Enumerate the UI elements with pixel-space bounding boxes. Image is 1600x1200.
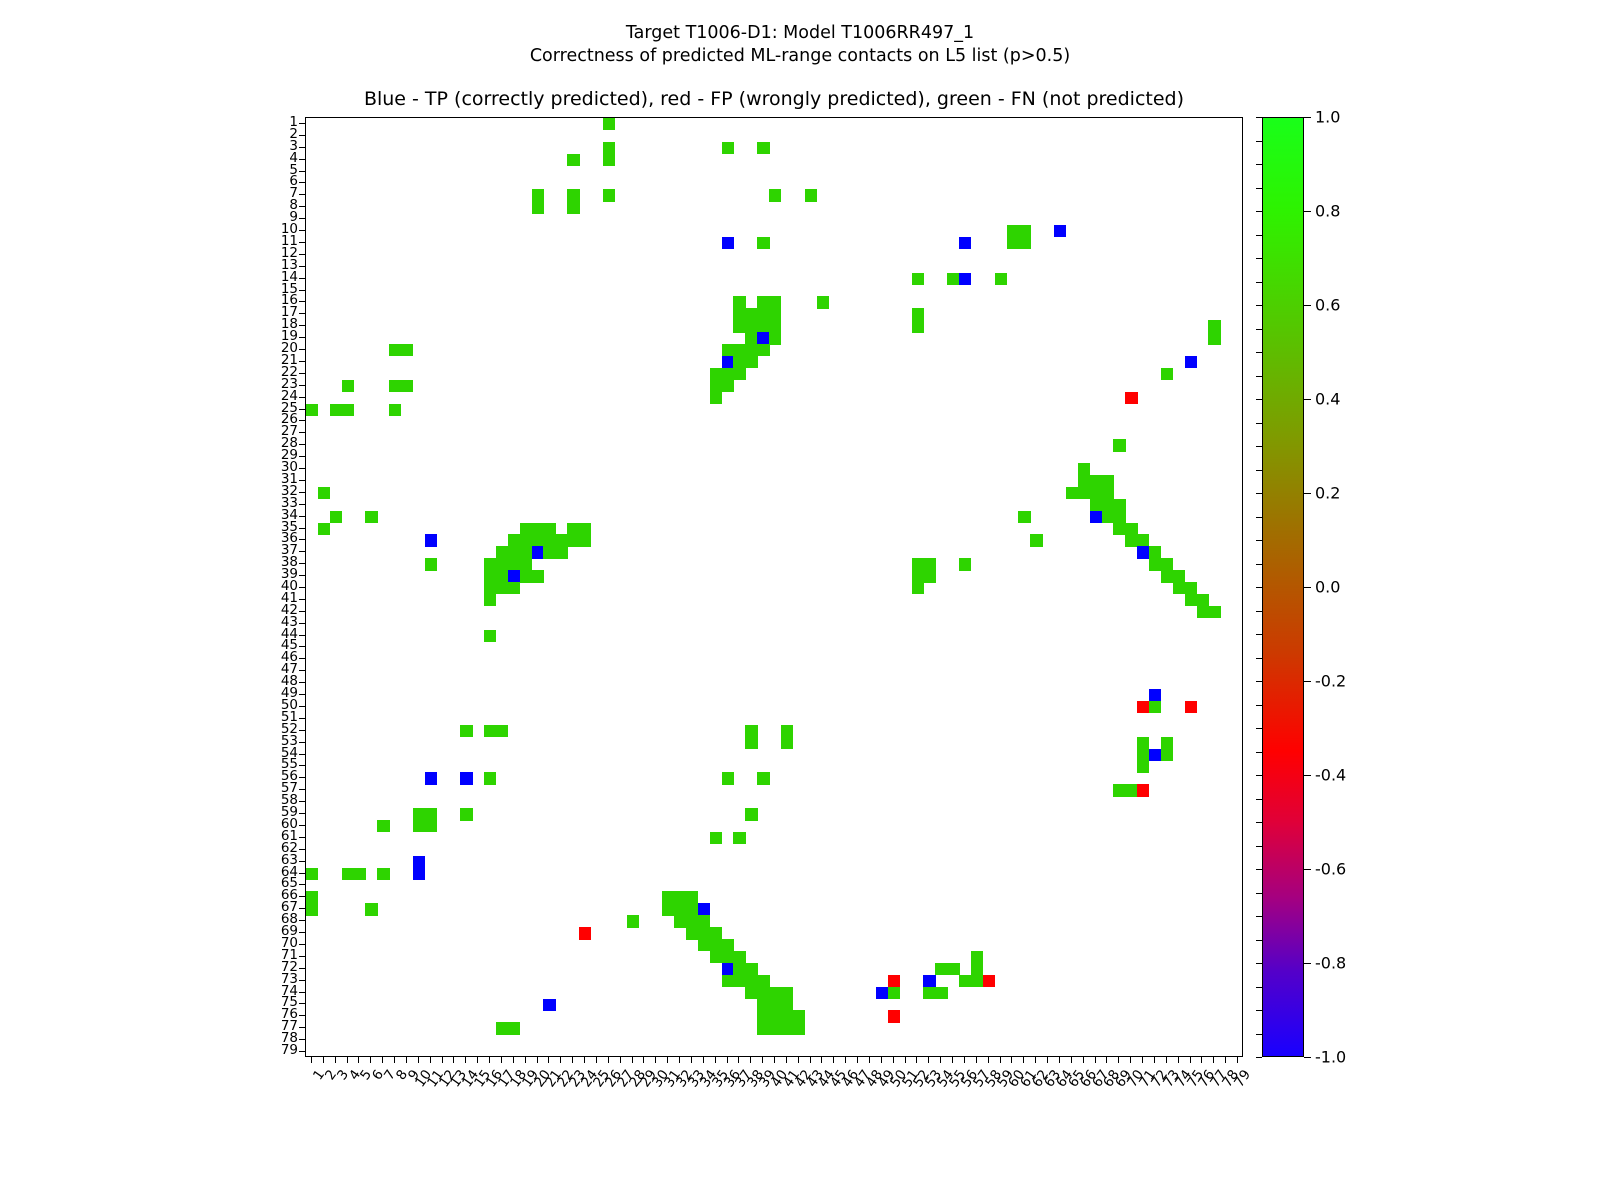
contact-cell — [532, 570, 544, 582]
contact-cell — [733, 368, 745, 380]
contact-cell — [686, 927, 698, 939]
x-tick-mark — [1000, 1057, 1001, 1063]
x-tick-mark — [1225, 1057, 1226, 1063]
contact-cell — [935, 987, 947, 999]
colorbar-tick-label: -1.0 — [1315, 1048, 1346, 1067]
y-tick-mark — [299, 896, 305, 897]
contact-cell — [1185, 582, 1197, 594]
colorbar-minor-tick — [1256, 916, 1262, 917]
x-tick-mark — [513, 1057, 514, 1063]
contact-cell — [567, 201, 579, 213]
contact-cell — [401, 380, 413, 392]
contact-cell — [769, 999, 781, 1011]
contact-cell — [722, 142, 734, 154]
contact-cell — [805, 189, 817, 201]
contact-cell — [1161, 558, 1173, 570]
contact-cell — [603, 189, 615, 201]
contact-cell — [923, 987, 935, 999]
contact-cell — [710, 832, 722, 844]
contact-cell — [1030, 534, 1042, 546]
contact-cell — [745, 725, 757, 737]
colorbar-minor-tick — [1256, 681, 1262, 682]
x-tick-mark — [774, 1057, 775, 1063]
y-tick-mark — [299, 504, 305, 505]
axes-legend-title: Blue - TP (correctly predicted), red - F… — [305, 88, 1243, 110]
colorbar-minor-tick — [1256, 235, 1262, 236]
x-tick-mark — [857, 1057, 858, 1063]
contact-cell — [674, 915, 686, 927]
contact-cell — [769, 308, 781, 320]
contact-cell — [508, 534, 520, 546]
x-tick-mark — [525, 1057, 526, 1063]
contact-cell — [508, 1022, 520, 1034]
y-tick-mark — [299, 254, 305, 255]
y-tick-mark — [299, 908, 305, 909]
colorbar-minor-tick — [1256, 376, 1262, 377]
contact-cell — [1149, 546, 1161, 558]
contact-cell — [496, 558, 508, 570]
contact-cell — [342, 404, 354, 416]
x-tick-mark — [643, 1057, 644, 1063]
colorbar-tick-mark — [1304, 305, 1311, 306]
contact-cell — [1090, 499, 1102, 511]
contact-cell — [710, 368, 722, 380]
figure-root: Target T1006-D1: Model T1006RR497_1 Corr… — [0, 0, 1600, 1200]
colorbar-minor-tick — [1256, 587, 1262, 588]
contact-cell — [543, 534, 555, 546]
colorbar-tick-mark — [1304, 399, 1311, 400]
colorbar-minor-tick — [1256, 470, 1262, 471]
y-tick-mark — [299, 706, 305, 707]
contact-cell — [757, 975, 769, 987]
x-tick-mark — [1166, 1057, 1167, 1063]
contact-cell — [484, 630, 496, 642]
contact-cell — [306, 903, 318, 915]
contact-cell — [532, 189, 544, 201]
x-tick-mark — [869, 1057, 870, 1063]
colorbar-tick-label: 0.0 — [1315, 578, 1340, 597]
colorbar-minor-tick — [1256, 611, 1262, 612]
x-tick-mark — [335, 1057, 336, 1063]
y-tick-mark — [299, 670, 305, 671]
x-tick-mark — [489, 1057, 490, 1063]
contact-cell — [555, 534, 567, 546]
colorbar-minor-tick — [1256, 1057, 1262, 1058]
y-tick-mark — [299, 754, 305, 755]
contact-cell — [1137, 749, 1149, 761]
contact-cell — [674, 903, 686, 915]
contact-cell — [1173, 582, 1185, 594]
colorbar-minor-tick — [1256, 822, 1262, 823]
contact-cell — [1208, 332, 1220, 344]
y-tick-mark — [299, 599, 305, 600]
colorbar-tick-mark — [1304, 869, 1311, 870]
contact-cell — [365, 903, 377, 915]
y-tick-mark — [299, 290, 305, 291]
x-tick-mark — [916, 1057, 917, 1063]
contact-cell — [781, 737, 793, 749]
contact-cell — [959, 273, 971, 285]
contact-cell — [769, 332, 781, 344]
x-tick-mark — [323, 1057, 324, 1063]
x-tick-mark — [1035, 1057, 1036, 1063]
contact-cell — [757, 999, 769, 1011]
contact-cell — [377, 820, 389, 832]
contact-cell — [306, 868, 318, 880]
x-tick-mark — [905, 1057, 906, 1063]
y-tick-mark — [299, 528, 305, 529]
contact-cell — [698, 915, 710, 927]
contact-cell — [722, 380, 734, 392]
colorbar-minor-tick — [1256, 305, 1262, 306]
y-tick-mark — [299, 1003, 305, 1004]
contact-cell — [413, 808, 425, 820]
contact-cell — [757, 296, 769, 308]
colorbar-minor-tick — [1256, 564, 1262, 565]
contact-cell — [912, 308, 924, 320]
contact-cell — [413, 820, 425, 832]
contact-cell — [1185, 356, 1197, 368]
contact-cell — [662, 903, 674, 915]
contact-cell — [674, 891, 686, 903]
contact-cell — [1197, 606, 1209, 618]
colorbar-minor-tick — [1256, 799, 1262, 800]
contact-cell — [1161, 368, 1173, 380]
x-tick-mark — [810, 1057, 811, 1063]
y-tick-mark — [299, 920, 305, 921]
contact-cell — [745, 808, 757, 820]
x-tick-mark — [750, 1057, 751, 1063]
y-tick-mark — [299, 563, 305, 564]
y-tick-mark — [299, 516, 305, 517]
colorbar-minor-tick — [1256, 658, 1262, 659]
contact-cell — [959, 237, 971, 249]
contact-cell — [342, 868, 354, 880]
contact-cell — [318, 487, 330, 499]
contact-cell — [662, 891, 674, 903]
colorbar-minor-tick — [1256, 446, 1262, 447]
contact-cell — [1090, 487, 1102, 499]
contact-cell — [733, 308, 745, 320]
contact-cell — [757, 320, 769, 332]
x-tick-mark — [1023, 1057, 1024, 1063]
x-tick-mark — [727, 1057, 728, 1063]
contact-cell — [1113, 523, 1125, 535]
x-tick-mark — [1213, 1057, 1214, 1063]
y-tick-mark — [299, 420, 305, 421]
colorbar-tick-label: 0.2 — [1315, 484, 1340, 503]
y-tick-mark — [299, 147, 305, 148]
x-tick-mark — [1083, 1057, 1084, 1063]
y-tick-mark — [299, 801, 305, 802]
contact-cell — [947, 963, 959, 975]
contact-cell — [520, 570, 532, 582]
y-tick-mark — [299, 611, 305, 612]
colorbar-tick-mark — [1304, 775, 1311, 776]
contact-cell — [745, 344, 757, 356]
contact-cell — [330, 511, 342, 523]
contact-cell — [912, 320, 924, 332]
contact-cell — [318, 523, 330, 535]
colorbar-minor-tick — [1256, 352, 1262, 353]
x-tick-mark — [1201, 1057, 1202, 1063]
contact-cell — [983, 975, 995, 987]
contact-cell — [733, 963, 745, 975]
contact-cell — [1078, 463, 1090, 475]
contact-cell — [532, 534, 544, 546]
contact-cell — [923, 570, 935, 582]
x-tick-mark — [1142, 1057, 1143, 1063]
contact-cell — [484, 570, 496, 582]
contact-cell — [567, 523, 579, 535]
contact-cell — [508, 570, 520, 582]
contact-cell — [912, 273, 924, 285]
x-tick-mark — [370, 1057, 371, 1063]
contact-cell — [342, 380, 354, 392]
x-tick-mark — [1118, 1057, 1119, 1063]
contact-cell — [935, 963, 947, 975]
contact-cell — [496, 570, 508, 582]
x-tick-mark — [382, 1057, 383, 1063]
colorbar-tick-label: 1.0 — [1315, 108, 1340, 127]
y-tick-mark — [299, 278, 305, 279]
x-tick-mark — [1130, 1057, 1131, 1063]
y-tick-mark — [299, 444, 305, 445]
x-tick-mark — [406, 1057, 407, 1063]
contact-cell — [757, 772, 769, 784]
contact-cell — [401, 344, 413, 356]
y-tick-mark — [299, 646, 305, 647]
contact-cell — [389, 404, 401, 416]
contact-cell — [757, 1010, 769, 1022]
contact-cell — [425, 772, 437, 784]
contact-cell — [520, 534, 532, 546]
contact-cell — [1018, 225, 1030, 237]
colorbar-minor-tick — [1256, 517, 1262, 518]
x-tick-mark — [632, 1057, 633, 1063]
contact-cell — [1185, 594, 1197, 606]
contact-cell — [1173, 570, 1185, 582]
y-tick-mark — [299, 777, 305, 778]
y-tick-mark — [299, 171, 305, 172]
y-tick-mark — [299, 1039, 305, 1040]
contact-cell — [1149, 701, 1161, 713]
colorbar-tick-mark — [1304, 493, 1311, 494]
contact-cell — [876, 987, 888, 999]
contact-cell — [1161, 570, 1173, 582]
x-tick-mark — [940, 1057, 941, 1063]
contact-cell — [959, 558, 971, 570]
figure-title-block: Target T1006-D1: Model T1006RR497_1 Corr… — [0, 22, 1600, 68]
x-tick-mark — [1106, 1057, 1107, 1063]
contact-cell — [1149, 689, 1161, 701]
x-tick-mark — [311, 1057, 312, 1063]
contact-cell — [1113, 784, 1125, 796]
y-tick-mark — [299, 313, 305, 314]
y-tick-mark — [299, 373, 305, 374]
x-tick-mark — [703, 1057, 704, 1063]
x-tick-mark — [1059, 1057, 1060, 1063]
contact-cell — [353, 868, 365, 880]
contact-cell — [306, 404, 318, 416]
colorbar-minor-tick — [1256, 329, 1262, 330]
contact-cell — [745, 356, 757, 368]
y-tick-mark — [299, 218, 305, 219]
y-tick-mark — [299, 385, 305, 386]
contact-cell — [722, 951, 734, 963]
y-tick-mark — [299, 575, 305, 576]
colorbar-minor-tick — [1256, 963, 1262, 964]
y-tick-mark — [299, 968, 305, 969]
x-tick-mark — [786, 1057, 787, 1063]
contact-cell — [722, 939, 734, 951]
x-tick-mark — [620, 1057, 621, 1063]
contact-cell — [722, 772, 734, 784]
contact-cell — [757, 237, 769, 249]
x-tick-mark — [608, 1057, 609, 1063]
contact-cell — [1090, 475, 1102, 487]
contact-cell — [1102, 487, 1114, 499]
y-tick-mark — [299, 849, 305, 850]
contact-cell — [698, 903, 710, 915]
colorbar — [1262, 117, 1304, 1057]
contact-cell — [757, 1022, 769, 1034]
colorbar-minor-tick — [1256, 634, 1262, 635]
x-tick-mark — [572, 1057, 573, 1063]
y-tick-mark — [299, 992, 305, 993]
y-tick-mark — [299, 825, 305, 826]
colorbar-tick-mark — [1304, 117, 1311, 118]
contact-cell — [1208, 606, 1220, 618]
colorbar-tick-label: -0.6 — [1315, 860, 1346, 879]
x-tick-mark — [347, 1057, 348, 1063]
x-tick-mark — [952, 1057, 953, 1063]
contact-cell — [460, 772, 472, 784]
contact-cell — [793, 1022, 805, 1034]
colorbar-minor-tick — [1256, 164, 1262, 165]
contact-cell — [484, 725, 496, 737]
y-tick-mark — [299, 539, 305, 540]
contact-cell — [769, 320, 781, 332]
contact-cell — [769, 296, 781, 308]
contact-cell — [745, 308, 757, 320]
y-tick-mark — [299, 301, 305, 302]
contact-cell — [769, 189, 781, 201]
y-tick-mark — [299, 658, 305, 659]
x-tick-mark — [501, 1057, 502, 1063]
colorbar-minor-tick — [1256, 893, 1262, 894]
figure-title-line-2: Correctness of predicted ML-range contac… — [0, 45, 1600, 68]
x-tick-mark — [845, 1057, 846, 1063]
contact-cell — [555, 546, 567, 558]
x-tick-mark — [430, 1057, 431, 1063]
contact-cell — [1018, 237, 1030, 249]
contact-cell — [888, 975, 900, 987]
contact-cell — [757, 332, 769, 344]
colorbar-minor-tick — [1256, 775, 1262, 776]
contact-cell — [579, 927, 591, 939]
contact-cell — [520, 546, 532, 558]
contact-cell — [686, 915, 698, 927]
x-tick-mark — [418, 1057, 419, 1063]
x-tick-mark — [715, 1057, 716, 1063]
y-tick-mark — [299, 230, 305, 231]
contact-cell — [710, 927, 722, 939]
contact-cell — [781, 725, 793, 737]
colorbar-tick-label: 0.8 — [1315, 202, 1340, 221]
contact-cell — [543, 546, 555, 558]
x-tick-mark — [1011, 1057, 1012, 1063]
colorbar-minor-tick — [1256, 940, 1262, 941]
y-tick-mark — [299, 980, 305, 981]
contact-cell — [579, 534, 591, 546]
x-tick-mark — [1047, 1057, 1048, 1063]
colorbar-tick-mark — [1304, 1057, 1311, 1058]
y-tick-mark — [299, 873, 305, 874]
contact-cell — [627, 915, 639, 927]
x-tick-mark — [394, 1057, 395, 1063]
contact-cell — [722, 975, 734, 987]
contact-cell — [722, 368, 734, 380]
y-tick-mark — [299, 432, 305, 433]
y-tick-mark — [299, 742, 305, 743]
x-tick-mark — [798, 1057, 799, 1063]
contact-cell — [757, 142, 769, 154]
contact-cell — [1161, 749, 1173, 761]
contact-cell — [1125, 784, 1137, 796]
contact-cell — [1113, 499, 1125, 511]
contact-cell — [1007, 225, 1019, 237]
y-tick-mark — [299, 456, 305, 457]
contact-cell — [923, 558, 935, 570]
contact-cell — [733, 344, 745, 356]
contact-cell — [923, 975, 935, 987]
y-tick-mark — [299, 837, 305, 838]
colorbar-tick-label: -0.8 — [1315, 954, 1346, 973]
contact-cell — [425, 808, 437, 820]
figure-title-line-1: Target T1006-D1: Model T1006RR497_1 — [0, 22, 1600, 45]
contact-cell — [1161, 737, 1173, 749]
contact-cell — [508, 582, 520, 594]
x-tick-mark — [679, 1057, 680, 1063]
contact-cell — [603, 118, 615, 130]
contact-cell — [1007, 237, 1019, 249]
contact-cell — [722, 344, 734, 356]
contact-cell — [733, 356, 745, 368]
contact-cell — [888, 987, 900, 999]
x-tick-mark — [893, 1057, 894, 1063]
contact-cell — [1078, 487, 1090, 499]
y-tick-mark — [299, 861, 305, 862]
x-tick-mark — [1190, 1057, 1191, 1063]
contact-cell — [413, 856, 425, 868]
contact-cell — [306, 891, 318, 903]
contact-cell — [1125, 392, 1137, 404]
y-tick-mark — [299, 123, 305, 124]
contact-cell — [425, 558, 437, 570]
colorbar-minor-tick — [1256, 705, 1262, 706]
y-tick-mark — [299, 409, 305, 410]
x-tick-mark — [988, 1057, 989, 1063]
contact-cell — [781, 1022, 793, 1034]
x-tick-mark — [584, 1057, 585, 1063]
y-tick-label: 79 — [240, 1044, 298, 1058]
contact-cell — [1113, 511, 1125, 523]
colorbar-minor-tick — [1256, 869, 1262, 870]
contact-cell — [888, 1010, 900, 1022]
contact-cell — [1090, 511, 1102, 523]
contact-cell — [757, 344, 769, 356]
